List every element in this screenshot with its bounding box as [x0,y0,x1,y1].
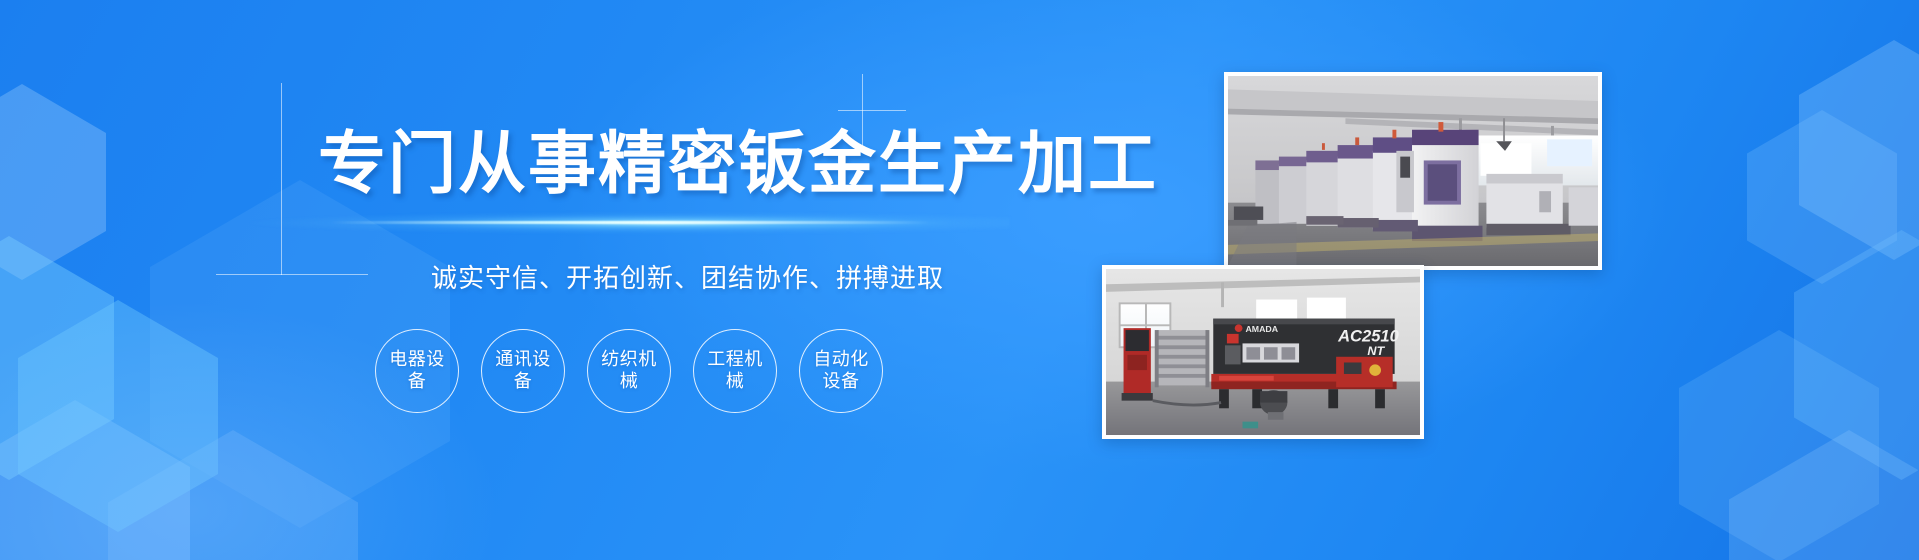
factory-photo-amada-punch-press: AMADA AC2510 NT [1102,265,1424,439]
svg-text:NT: NT [1367,344,1385,358]
category-badge-label: 工程机械 [704,349,766,393]
banner-subtitle: 诚实守信、开拓创新、团结协作、拼搏进取 [431,258,944,295]
light-beam-core-icon [330,221,930,224]
category-badge-label: 纺织机械 [598,349,660,393]
category-badge-textile-machinery[interactable]: 纺织机械 [587,329,671,413]
category-badge-label: 电器设备 [386,349,448,393]
factory-photo-cnc-machining-centers [1224,72,1602,270]
category-badge-label: 通讯设备 [492,349,554,393]
svg-text:AMADA: AMADA [1245,324,1278,334]
category-badge-list: 电器设备 通讯设备 纺织机械 工程机械 自动化设备 [375,329,883,413]
hero-banner: 专门从事精密钣金生产加工 诚实守信、开拓创新、团结协作、拼搏进取 电器设备 通讯… [0,0,1919,560]
category-badge-communication-equipment[interactable]: 通讯设备 [481,329,565,413]
category-badge-electrical-equipment[interactable]: 电器设备 [375,329,459,413]
banner-content: 专门从事精密钣金生产加工 诚实守信、开拓创新、团结协作、拼搏进取 电器设备 通讯… [0,0,1060,560]
category-badge-automation-equipment[interactable]: 自动化设备 [799,329,883,413]
category-badge-label: 自动化设备 [810,349,872,393]
banner-headline: 专门从事精密钣金生产加工 [318,130,1158,198]
svg-text:AC2510: AC2510 [1337,328,1399,346]
category-badge-construction-machinery[interactable]: 工程机械 [693,329,777,413]
